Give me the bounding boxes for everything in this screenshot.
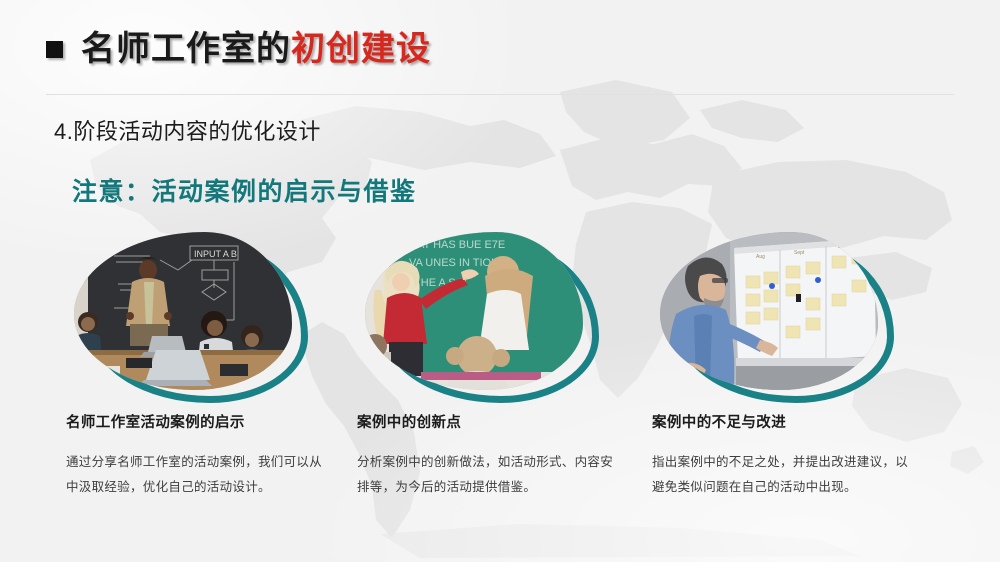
column-heading: 案例中的不足与改进 [652,411,952,432]
title-accent-text: 初创建设 [291,32,431,66]
photo-teacher-green-board: AT HAS BUE E7E VA UNES IN TIOUS A HE A S… [365,232,583,390]
square-bullet-icon [46,41,63,58]
svg-text:Jan: Jan [838,244,846,250]
svg-text:Aug: Aug [756,254,765,260]
column-body-text: 通过分享名师工作室的活动案例，我们可以从中汲取经验，优化自己的活动设计。 [66,450,324,500]
svg-text:Sept: Sept [794,250,805,256]
photo-man-whiteboard-stickynotes: AugSeptJan [660,232,878,390]
page-title: 名师工作室的 初创建设 [46,32,431,66]
column-body-text: 指出案例中的不足之处，并提出改进建议，以避免类似问题在自己的活动中出现。 [652,450,918,500]
header-divider [46,94,954,95]
photo-teacher-chalkboard: INPUT A B [74,232,292,390]
content-column: INPUT A B [66,232,366,500]
content-column: AT HAS BUE E7E VA UNES IN TIOUS A HE A S… [357,232,657,500]
blob-image-frame: AugSeptJan [660,232,890,397]
slide-canvas: 名师工作室的 初创建设 4.阶段活动内容的优化设计 注意：活动案例的启示与借鉴 [0,0,1000,562]
blob-image-frame: INPUT A B [74,232,304,397]
section-subtitle: 4.阶段活动内容的优化设计 [54,114,321,146]
title-primary-text: 名师工作室的 [81,32,291,66]
column-heading: 名师工作室活动案例的启示 [66,411,366,432]
svg-text:AT HAS BUE E7E: AT HAS BUE E7E [417,239,505,251]
content-column: AugSeptJan [652,232,952,500]
column-heading: 案例中的创新点 [357,411,657,432]
blob-image-frame: AT HAS BUE E7E VA UNES IN TIOUS A HE A S… [365,232,595,397]
slide-header: 名师工作室的 初创建设 [0,0,1000,96]
notice-heading: 注意：活动案例的启示与借鉴 [72,172,417,208]
column-body-text: 分析案例中的创新做法，如活动形式、内容安排等，为今后的活动提供借鉴。 [357,450,615,500]
svg-text:INPUT A B: INPUT A B [194,249,237,259]
